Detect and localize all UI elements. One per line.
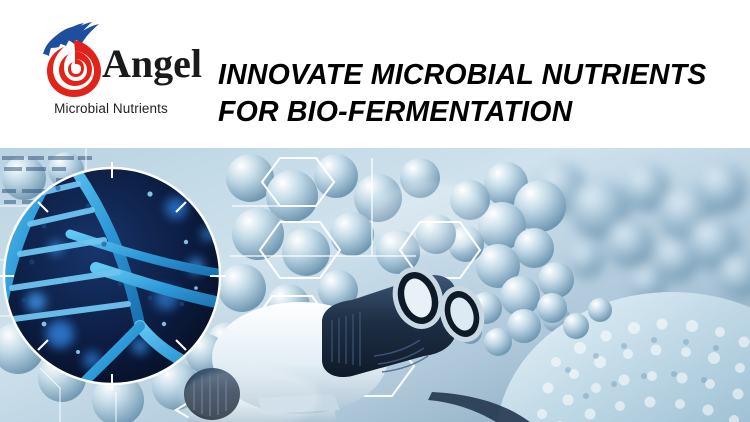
page-title-line-2: FOR BIO-FERMENTATION [218, 94, 738, 131]
angel-microbial-nutrients-banner: Angel Microbial Nutrients INNOVATE MICRO… [0, 0, 750, 422]
brand-wordmark-text: Angel [102, 42, 202, 86]
banner-header: Angel Microbial Nutrients INNOVATE MICRO… [0, 0, 750, 148]
page-title: INNOVATE MICROBIAL NUTRIENTS FOR BIO-FER… [218, 57, 738, 131]
page-title-line-1: INNOVATE MICROBIAL NUTRIENTS [218, 59, 707, 91]
angel-swirl-logo-icon [28, 18, 112, 98]
brand-tagline: Microbial Nutrients [22, 101, 200, 116]
brand-wordmark: Angel [102, 42, 202, 90]
brand-logo[interactable]: Angel Microbial Nutrients [22, 18, 200, 118]
biotech-hero-image [0, 148, 750, 422]
